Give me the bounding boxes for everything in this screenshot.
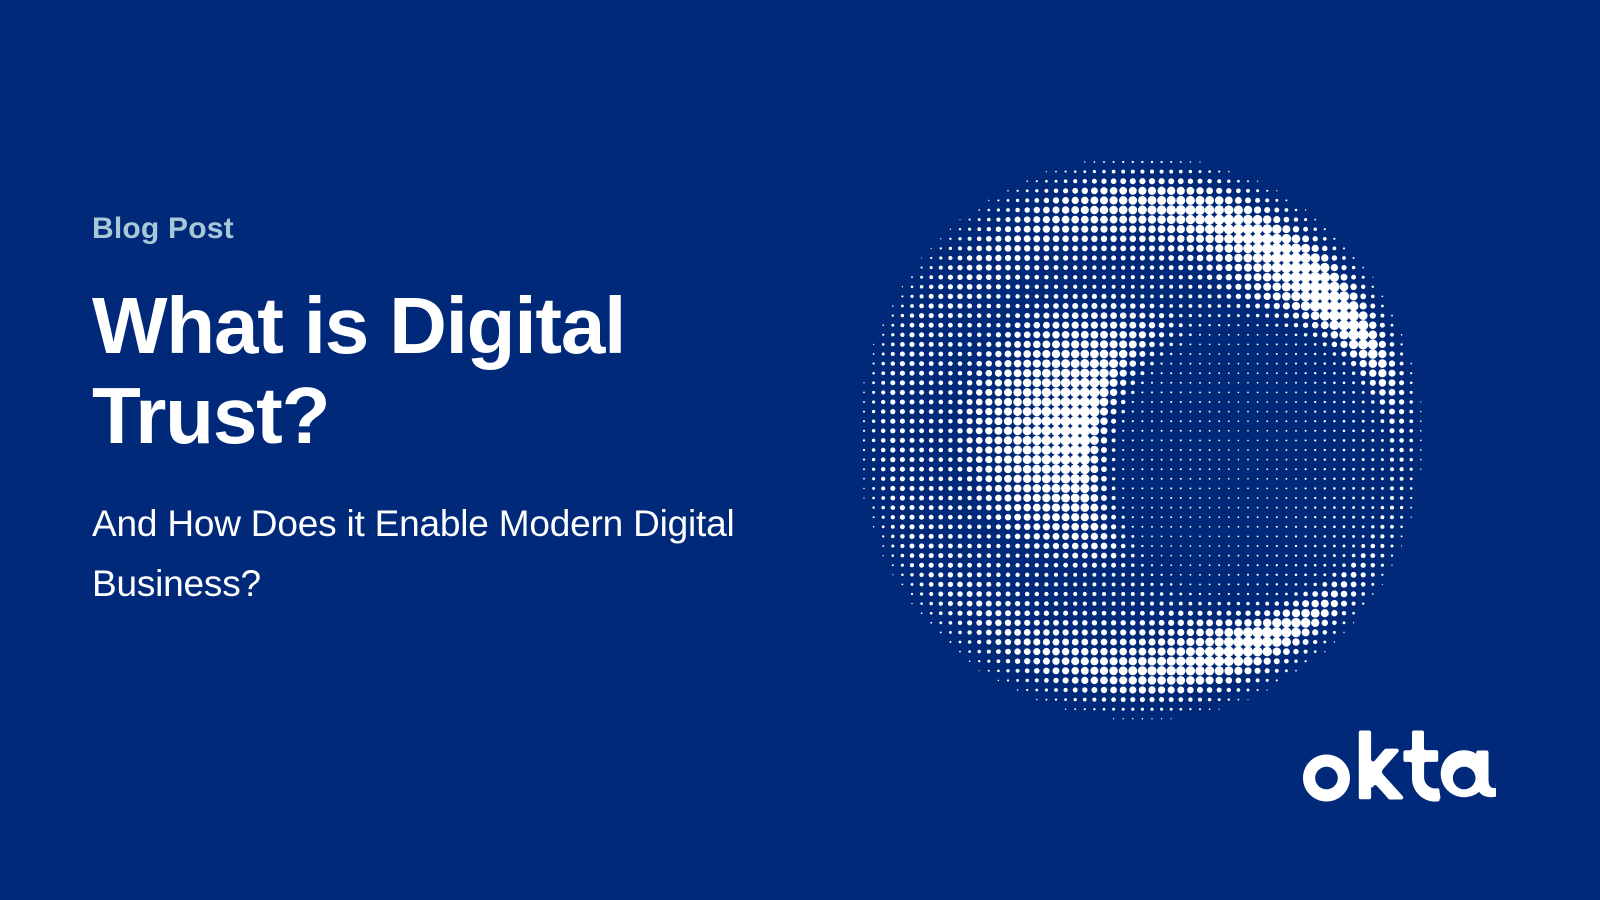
text-content-column: Blog Post What is Digital Trust? And How… xyxy=(92,212,812,614)
blog-post-social-card: Blog Post What is Digital Trust? And How… xyxy=(0,0,1600,900)
okta-logo xyxy=(1296,726,1496,810)
content-type-eyebrow: Blog Post xyxy=(92,212,812,245)
okta-wordmark-logo-icon xyxy=(1296,726,1496,810)
halftone-circle-artwork xyxy=(840,138,1440,738)
page-title: What is Digital Trust? xyxy=(92,281,782,460)
page-subtitle: And How Does it Enable Modern Digital Bu… xyxy=(92,494,792,614)
halftone-dot-icon xyxy=(840,138,1440,738)
